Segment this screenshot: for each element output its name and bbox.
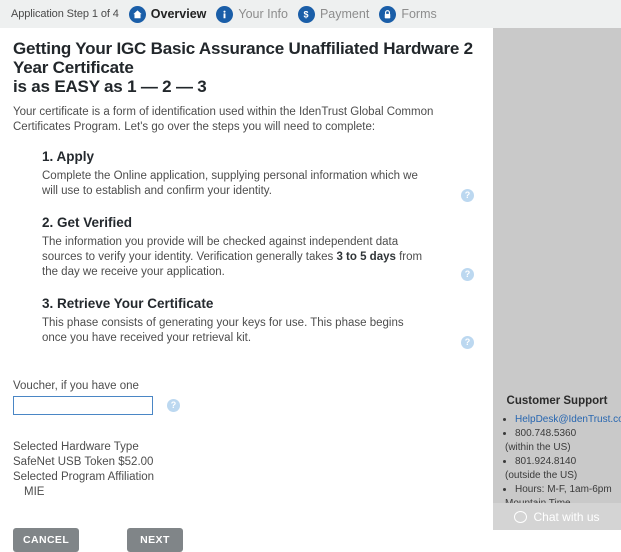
step-get-verified: 2. Get Verified The information you prov… (42, 215, 483, 280)
application-step-bar: Application Step 1 of 4 Overview Your In… (0, 0, 621, 28)
selected-affiliation-value: MIE (13, 485, 483, 500)
support-phone-intl-note: (outside the US) (505, 469, 615, 482)
page-title-line3: is as EASY as 1 — 2 — 3 (13, 77, 483, 96)
support-phone-us: 800.748.5360 (515, 428, 576, 439)
step2-body-bold: 3 to 5 days (336, 251, 395, 263)
support-phone-intl-item: 801.924.8140 (515, 455, 615, 468)
customer-support-box: Customer Support HelpDesk@IdenTrust.com … (493, 395, 621, 511)
spacer-1 (42, 199, 483, 215)
home-icon (129, 6, 146, 23)
chat-bubble-icon (514, 511, 527, 523)
spacer-2 (42, 280, 483, 296)
selected-affiliation-label: Selected Program Affiliation (13, 470, 483, 485)
tab-overview[interactable]: Overview (129, 6, 207, 23)
support-hours: Hours: M-F, 1am-6pm (515, 484, 612, 495)
step-retrieve-certificate: 3. Retrieve Your Certificate This phase … (42, 296, 483, 346)
page-title: Getting Your IGC Basic Assurance Unaffil… (13, 39, 483, 96)
info-icon (216, 6, 233, 23)
step-retrieve-certificate-heading: 3. Retrieve Your Certificate (42, 296, 483, 311)
tab-your-info-label: Your Info (238, 7, 288, 21)
cancel-button[interactable]: CANCEL (13, 528, 79, 552)
selections-summary: Selected Hardware Type SafeNet USB Token… (13, 440, 483, 500)
chat-with-us-label: Chat with us (533, 510, 599, 524)
tab-payment[interactable]: $ Payment (298, 6, 369, 23)
tab-payment-label: Payment (320, 7, 369, 21)
step-apply-heading: 1. Apply (42, 149, 483, 164)
support-email-item[interactable]: HelpDesk@IdenTrust.com (515, 413, 615, 426)
step-apply: 1. Apply Complete the Online application… (42, 149, 483, 199)
main-content: Getting Your IGC Basic Assurance Unaffil… (0, 28, 493, 530)
support-email-link[interactable]: HelpDesk@IdenTrust.com (515, 414, 621, 425)
svg-text:$: $ (304, 9, 309, 19)
next-button[interactable]: NEXT (127, 528, 183, 552)
page-title-line1: Getting Your IGC Basic Assurance Unaffil… (13, 39, 379, 58)
tab-forms-label: Forms (401, 7, 436, 21)
step-retrieve-certificate-body: This phase consists of generating your k… (42, 316, 424, 346)
step-counter-label: Application Step 1 of 4 (11, 8, 119, 20)
voucher-input[interactable] (13, 396, 153, 415)
steps-list: 1. Apply Complete the Online application… (13, 149, 483, 346)
selected-hardware-label: Selected Hardware Type (13, 440, 483, 455)
tab-overview-label: Overview (151, 7, 207, 21)
intro-line2: Let's go over the steps you will need to… (124, 121, 375, 133)
form-actions: CANCEL NEXT (13, 528, 483, 552)
support-phone-intl: 801.924.8140 (515, 456, 576, 467)
help-icon-voucher[interactable]: ? (167, 399, 180, 412)
customer-support-list: HelpDesk@IdenTrust.com 800.748.5360 (wit… (499, 413, 615, 510)
step-get-verified-body: The information you provide will be chec… (42, 235, 424, 280)
voucher-label: Voucher, if you have one (13, 380, 483, 392)
dollar-icon: $ (298, 6, 315, 23)
help-icon-step2[interactable]: ? (461, 268, 474, 281)
tab-your-info[interactable]: Your Info (216, 6, 288, 23)
support-hours-item: Hours: M-F, 1am-6pm (515, 483, 615, 496)
lock-icon (379, 6, 396, 23)
voucher-row: ? (13, 396, 483, 415)
support-phone-us-item: 800.748.5360 (515, 427, 615, 440)
chat-with-us-button[interactable]: Chat with us (493, 503, 621, 530)
help-icon-step1[interactable]: ? (461, 189, 474, 202)
right-sidebar-panel: Customer Support HelpDesk@IdenTrust.com … (493, 28, 621, 530)
help-icon-step3[interactable]: ? (461, 336, 474, 349)
customer-support-title: Customer Support (499, 395, 615, 407)
voucher-section: Voucher, if you have one ? (13, 380, 483, 415)
selected-hardware-value: SafeNet USB Token $52.00 (13, 455, 483, 470)
step-apply-body: Complete the Online application, supplyi… (42, 169, 424, 199)
tab-forms[interactable]: Forms (379, 6, 436, 23)
support-phone-us-note: (within the US) (505, 441, 615, 454)
step-get-verified-heading: 2. Get Verified (42, 215, 483, 230)
intro-paragraph: Your certificate is a form of identifica… (13, 105, 483, 135)
